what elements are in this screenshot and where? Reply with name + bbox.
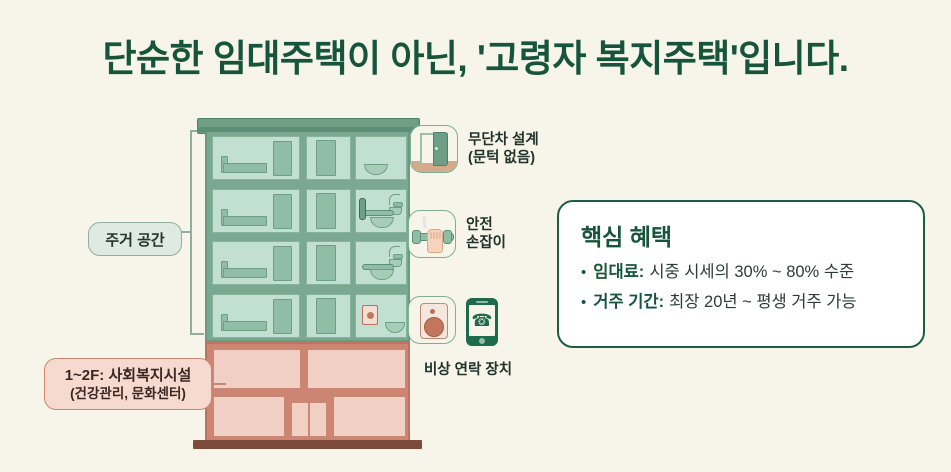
bathroom [355, 136, 407, 180]
open-door-icon [410, 125, 458, 173]
callout-safety-handrail-label: 안전 손잡이 [466, 216, 506, 252]
hallway [306, 241, 351, 285]
welfare-label-stem [212, 383, 226, 385]
benefit-item: • 임대료: 시중 시세의 30% ~ 80% 수준 [581, 261, 901, 284]
callout2-line1: 안전 [466, 216, 506, 234]
residential-bracket [190, 130, 204, 335]
hallway [306, 136, 351, 180]
callout2-line2: 손잡이 [466, 234, 506, 252]
welfare-label-line1: 1~2F: 사회복지시설 [65, 366, 192, 385]
grab-handrail-icon [408, 210, 456, 258]
bullet-marker: • [581, 291, 586, 314]
hallway [306, 189, 351, 233]
benefit-item-value: 시중 시세의 30% ~ 80% 수준 [649, 261, 854, 284]
bedroom [212, 189, 300, 233]
ground-line [193, 440, 422, 449]
callout1-line1: 무단차 설계 [468, 131, 539, 149]
residential-floors [205, 132, 410, 342]
benefit-card: 핵심 혜택 • 임대료: 시중 시세의 30% ~ 80% 수준 • 거주 기간… [557, 200, 925, 348]
callout-barrier-free-label: 무단차 설계 (문턱 없음) [468, 131, 539, 167]
benefit-item-value: 최장 20년 ~ 평생 거주 가능 [669, 291, 857, 314]
bathroom [355, 241, 407, 285]
emergency-button-icon [408, 296, 456, 344]
floor-row [207, 290, 408, 343]
callout-safety-handrail: 안전 손잡이 [408, 210, 506, 258]
label-residential-space: 주거 공간 [88, 222, 182, 256]
floor-row [207, 132, 408, 185]
bedroom [212, 136, 300, 180]
callout-emergency-device: ☎ 비상 연락 장치 [408, 296, 528, 344]
benefit-item: • 거주 기간: 최장 20년 ~ 평생 거주 가능 [581, 291, 901, 314]
welfare-label-line2: (건강관리, 문화센터) [70, 385, 186, 403]
bathroom [355, 294, 407, 338]
bathroom [355, 189, 407, 233]
bedroom [212, 241, 300, 285]
benefit-card-title: 핵심 혜택 [581, 218, 901, 252]
infographic-canvas: 단순한 임대주택이 아닌, '고령자 복지주택'입니다. [0, 0, 951, 472]
benefit-item-key: 임대료: [593, 261, 644, 284]
floor-row [207, 237, 408, 290]
callout-emergency-device-label: 비상 연락 장치 [408, 358, 528, 379]
page-title: 단순한 임대주택이 아닌, '고령자 복지주택'입니다. [0, 28, 951, 82]
bedroom [212, 294, 300, 338]
callout1-line2: (문턱 없음) [468, 149, 539, 167]
hallway [306, 294, 351, 338]
benefit-item-key: 거주 기간: [593, 291, 664, 314]
floor-row [207, 185, 408, 238]
welfare-floors [205, 342, 410, 442]
callout-barrier-free: 무단차 설계 (문턱 없음) [410, 125, 539, 173]
bullet-marker: • [581, 261, 586, 284]
smartphone-call-icon: ☎ [466, 298, 498, 346]
building-illustration [205, 118, 410, 458]
label-residential-space-text: 주거 공간 [105, 229, 164, 250]
label-welfare-facility: 1~2F: 사회복지시설 (건강관리, 문화센터) [44, 358, 212, 410]
emergency-call-unit-icon [362, 305, 378, 325]
